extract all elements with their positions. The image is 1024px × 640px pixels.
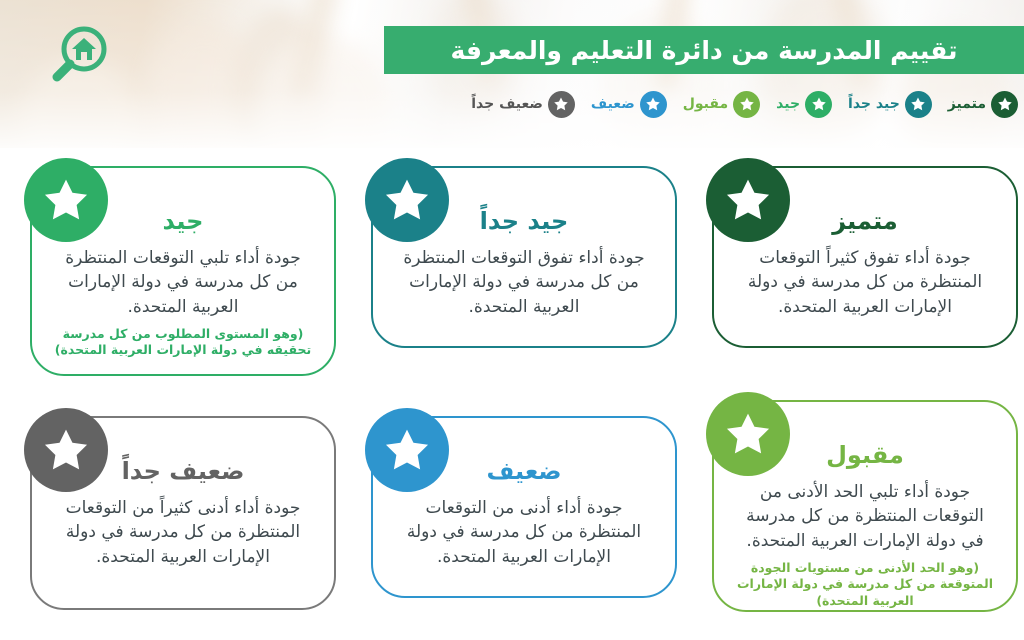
- page-title: تقييم المدرسة من دائرة التعليم والمعرفة: [450, 36, 957, 65]
- legend-label: مقبول: [683, 96, 728, 112]
- rating-legend: متميز جيد جداً جيد مقبول ضعيف: [380, 86, 1024, 122]
- rating-card-weak[interactable]: ضعيف جودة أداء أدنى من التوقعات المنتظرة…: [371, 416, 677, 598]
- star-icon: [640, 91, 667, 118]
- star-icon: [548, 91, 575, 118]
- rating-card-grid: متميز جودة أداء تفوق كثيراً التوقعات الم…: [0, 138, 1024, 640]
- star-icon: [365, 158, 449, 242]
- legend-label: ضعيف: [591, 96, 635, 112]
- star-icon: [805, 91, 832, 118]
- legend-item-outstanding[interactable]: متميز: [938, 91, 1018, 118]
- page-title-bar: تقييم المدرسة من دائرة التعليم والمعرفة: [384, 26, 1024, 74]
- card-description: جودة أداء تفوق كثيراً التوقعات المنتظرة …: [736, 246, 994, 320]
- legend-label: جيد: [776, 96, 800, 112]
- star-icon: [733, 91, 760, 118]
- star-icon: [24, 158, 108, 242]
- legend-label: ضعيف جداً: [471, 96, 543, 112]
- card-note: (وهو المستوى المطلوب من كل مدرسة تحقيقه …: [54, 326, 312, 360]
- header-photo-band: [0, 0, 1024, 148]
- rating-card-acceptable[interactable]: مقبول جودة أداء تلبي الحد الأدنى من التو…: [712, 400, 1018, 612]
- legend-label: متميز: [948, 96, 986, 112]
- legend-item-weak[interactable]: ضعيف: [581, 91, 667, 118]
- photo-overlay: [0, 0, 1024, 148]
- card-description: جودة أداء أدنى من التوقعات المنتظرة من ك…: [395, 496, 653, 570]
- star-icon: [24, 408, 108, 492]
- legend-item-very-good[interactable]: جيد جداً: [838, 91, 932, 118]
- card-description: جودة أداء تلبي الحد الأدنى من التوقعات ا…: [736, 480, 994, 554]
- card-description: جودة أداء أدنى كثيراً من التوقعات المنتظ…: [54, 496, 312, 570]
- star-icon: [991, 91, 1018, 118]
- rating-card-good[interactable]: جيد جودة أداء تلبي التوقعات المنتظرة من …: [30, 166, 336, 376]
- legend-item-acceptable[interactable]: مقبول: [673, 91, 760, 118]
- house-search-logo: [44, 24, 110, 86]
- infographic-page: تقييم المدرسة من دائرة التعليم والمعرفة …: [0, 0, 1024, 640]
- card-description: جودة أداء تلبي التوقعات المنتظرة من كل م…: [54, 246, 312, 320]
- star-icon: [706, 392, 790, 476]
- star-icon: [365, 408, 449, 492]
- star-icon: [706, 158, 790, 242]
- rating-card-very-weak[interactable]: ضعيف جداً جودة أداء أدنى كثيراً من التوق…: [30, 416, 336, 610]
- star-icon: [905, 91, 932, 118]
- legend-item-very-weak[interactable]: ضعيف جداً: [461, 91, 575, 118]
- card-description: جودة أداء تفوق التوقعات المنتظرة من كل م…: [395, 246, 653, 320]
- legend-label: جيد جداً: [848, 96, 900, 112]
- legend-item-good[interactable]: جيد: [766, 91, 832, 118]
- rating-card-outstanding[interactable]: متميز جودة أداء تفوق كثيراً التوقعات الم…: [712, 166, 1018, 348]
- card-note: (وهو الحد الأدنى من مستويات الجودة المتو…: [736, 560, 994, 611]
- rating-card-very-good[interactable]: جيد جداً جودة أداء تفوق التوقعات المنتظر…: [371, 166, 677, 348]
